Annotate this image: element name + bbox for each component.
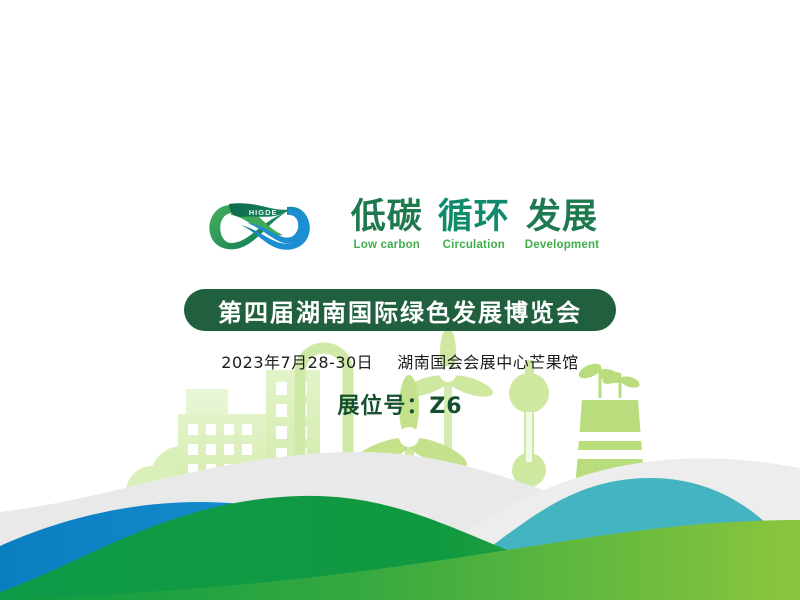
- slogan-cn-development: 发展: [526, 200, 598, 235]
- bright-green-wave: [0, 520, 800, 600]
- event-title-banner: 第四届湖南国际绿色发展博览会: [184, 289, 616, 331]
- bush-left: [126, 446, 214, 540]
- poster-canvas: HIGDE 低碳 Low carbon 循环 Circulation 发展 De…: [0, 0, 800, 600]
- logo-row: HIGDE 低碳 Low carbon 循环 Circulation 发展 De…: [0, 192, 800, 260]
- slogan-en-circulation: Circulation: [443, 240, 505, 252]
- logo-wordmark: HIGDE: [249, 208, 278, 217]
- slogan-group: 低碳 Low carbon 循环 Circulation 发展 Developm…: [351, 200, 599, 252]
- slogan-en-low-carbon: Low carbon: [354, 240, 421, 252]
- dark-green-wave: [0, 496, 800, 600]
- higde-logo: HIGDE: [201, 195, 317, 257]
- teal-wave: [360, 478, 800, 600]
- event-date: 2023年7月28-30日: [221, 349, 373, 373]
- slogan-item-development: 发展 Development: [525, 200, 599, 252]
- slogan-cn-low-carbon: 低碳: [351, 200, 423, 235]
- slogan-en-development: Development: [525, 240, 599, 252]
- event-venue: 湖南国会会展中心芒果馆: [397, 349, 579, 373]
- building-b: [178, 414, 266, 542]
- event-meta-line: 2023年7月28-30日 湖南国会会展中心芒果馆: [0, 349, 800, 373]
- slogan-item-circulation: 循环 Circulation: [438, 200, 510, 252]
- building-arch: [300, 348, 348, 520]
- blue-wave: [0, 502, 380, 600]
- gray-wave: [0, 452, 800, 600]
- booth-number-line: 展位号：Z6: [0, 388, 800, 420]
- booth-number-text: 展位号：Z6: [337, 388, 462, 420]
- slogan-cn-circulation: 循环: [438, 200, 510, 235]
- pearl-tower: [509, 360, 549, 520]
- gray-wave-right: [380, 458, 800, 600]
- factory-pipe: [640, 520, 662, 538]
- infinity-ribbon-icon: [201, 195, 317, 257]
- event-title-text: 第四届湖南国际绿色发展博览会: [218, 293, 582, 328]
- slogan-item-low-carbon: 低碳 Low carbon: [351, 200, 423, 252]
